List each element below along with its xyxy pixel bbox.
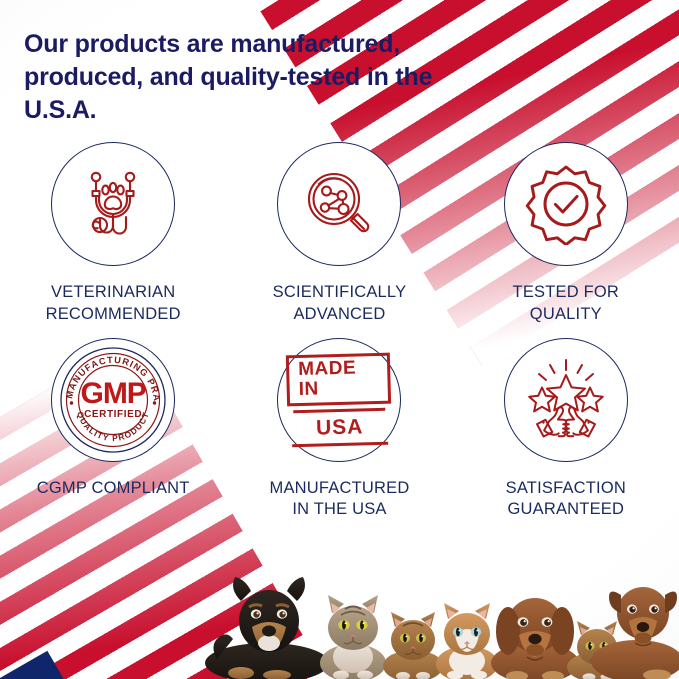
- badge-label: VETERINARIAN RECOMMENDED: [46, 282, 181, 326]
- gmp-subtitle-text: CERTIFIED: [80, 409, 145, 420]
- animal-orange-and-white-cat: [436, 603, 498, 679]
- badge-scientifically-advanced: SCIENTIFICALLY ADVANCED: [239, 142, 439, 326]
- badge-label: SATISFACTION GUARANTEED: [506, 478, 626, 522]
- stethoscope-paw-icon: [74, 165, 152, 243]
- badge-label: SCIENTIFICALLY ADVANCED: [273, 282, 407, 326]
- badge-circle: [51, 142, 175, 266]
- badge-circle: GOOD MANUFACTURING PRACTICE QUALITY PROD…: [51, 338, 175, 462]
- badge-row-2: GOOD MANUFACTURING PRACTICE QUALITY PROD…: [0, 338, 679, 522]
- badge-circle: MADE IN USA: [277, 338, 401, 462]
- badge-label: MANUFACTURED IN THE USA: [270, 478, 410, 522]
- badge-row-1: VETERINARIAN RECOMMENDED: [0, 142, 679, 326]
- flag-star-row: ★ ★ ★ ★ ★: [0, 674, 74, 679]
- badge-satisfaction-guaranteed: SATISFACTION GUARANTEED: [466, 338, 666, 522]
- badge-cgmp-compliant: GOOD MANUFACTURING PRACTICE QUALITY PROD…: [13, 338, 213, 500]
- badge-manufactured-in-usa: MADE IN USA MANUFACTURED IN THE USA: [239, 338, 439, 522]
- stars-thumbs-up-icon: [523, 357, 609, 443]
- badge-circle: [504, 338, 628, 462]
- flag-star-row: ★ ★ ★ ★ ★ ★: [0, 650, 61, 679]
- animal-brown-spaniel-dog: [491, 598, 579, 679]
- animal-black-and-tan-dog: [205, 577, 329, 679]
- usa-text: USA: [316, 415, 364, 439]
- animal-brown-tabby-cat: [383, 612, 443, 679]
- pets-group-photo: [205, 551, 679, 679]
- badge-tested-for-quality: TESTED FOR QUALITY: [466, 142, 666, 326]
- rosette-check-icon: [525, 163, 607, 245]
- gmp-center-text: GMP: [80, 379, 145, 408]
- badge-circle: [504, 142, 628, 266]
- magnifier-molecule-icon: [301, 166, 377, 242]
- flag-canton-star-field: ★ ★ ★ ★ ★ ★ ★ ★ ★ ★ ★ ★ ★ ★ ★ ★ ★ ★ ★ ★ …: [0, 650, 170, 679]
- stamp-rule: [294, 407, 386, 412]
- promo-banner: ★ ★ ★ ★ ★ ★ ★ ★ ★ ★ ★ ★ ★ ★ ★ ★ ★ ★ ★ ★ …: [0, 0, 679, 679]
- badge-label: TESTED FOR QUALITY: [513, 282, 620, 326]
- page-title: Our products are manufactured, produced,…: [24, 28, 474, 127]
- stamp-rule: [293, 441, 389, 447]
- trust-badge-grid: VETERINARIAN RECOMMENDED: [0, 142, 679, 521]
- animal-tabby-cat: [320, 595, 386, 679]
- gmp-certified-seal-icon: GOOD MANUFACTURING PRACTICE QUALITY PROD…: [59, 346, 167, 454]
- made-in-usa-stamp-icon: MADE IN USA: [286, 352, 392, 447]
- badge-label: CGMP COMPLIANT: [37, 478, 190, 500]
- pets-illustration: [205, 551, 679, 679]
- badge-veterinarian-recommended: VETERINARIAN RECOMMENDED: [13, 142, 213, 326]
- made-in-text: MADE IN: [286, 352, 391, 406]
- badge-circle: [277, 142, 401, 266]
